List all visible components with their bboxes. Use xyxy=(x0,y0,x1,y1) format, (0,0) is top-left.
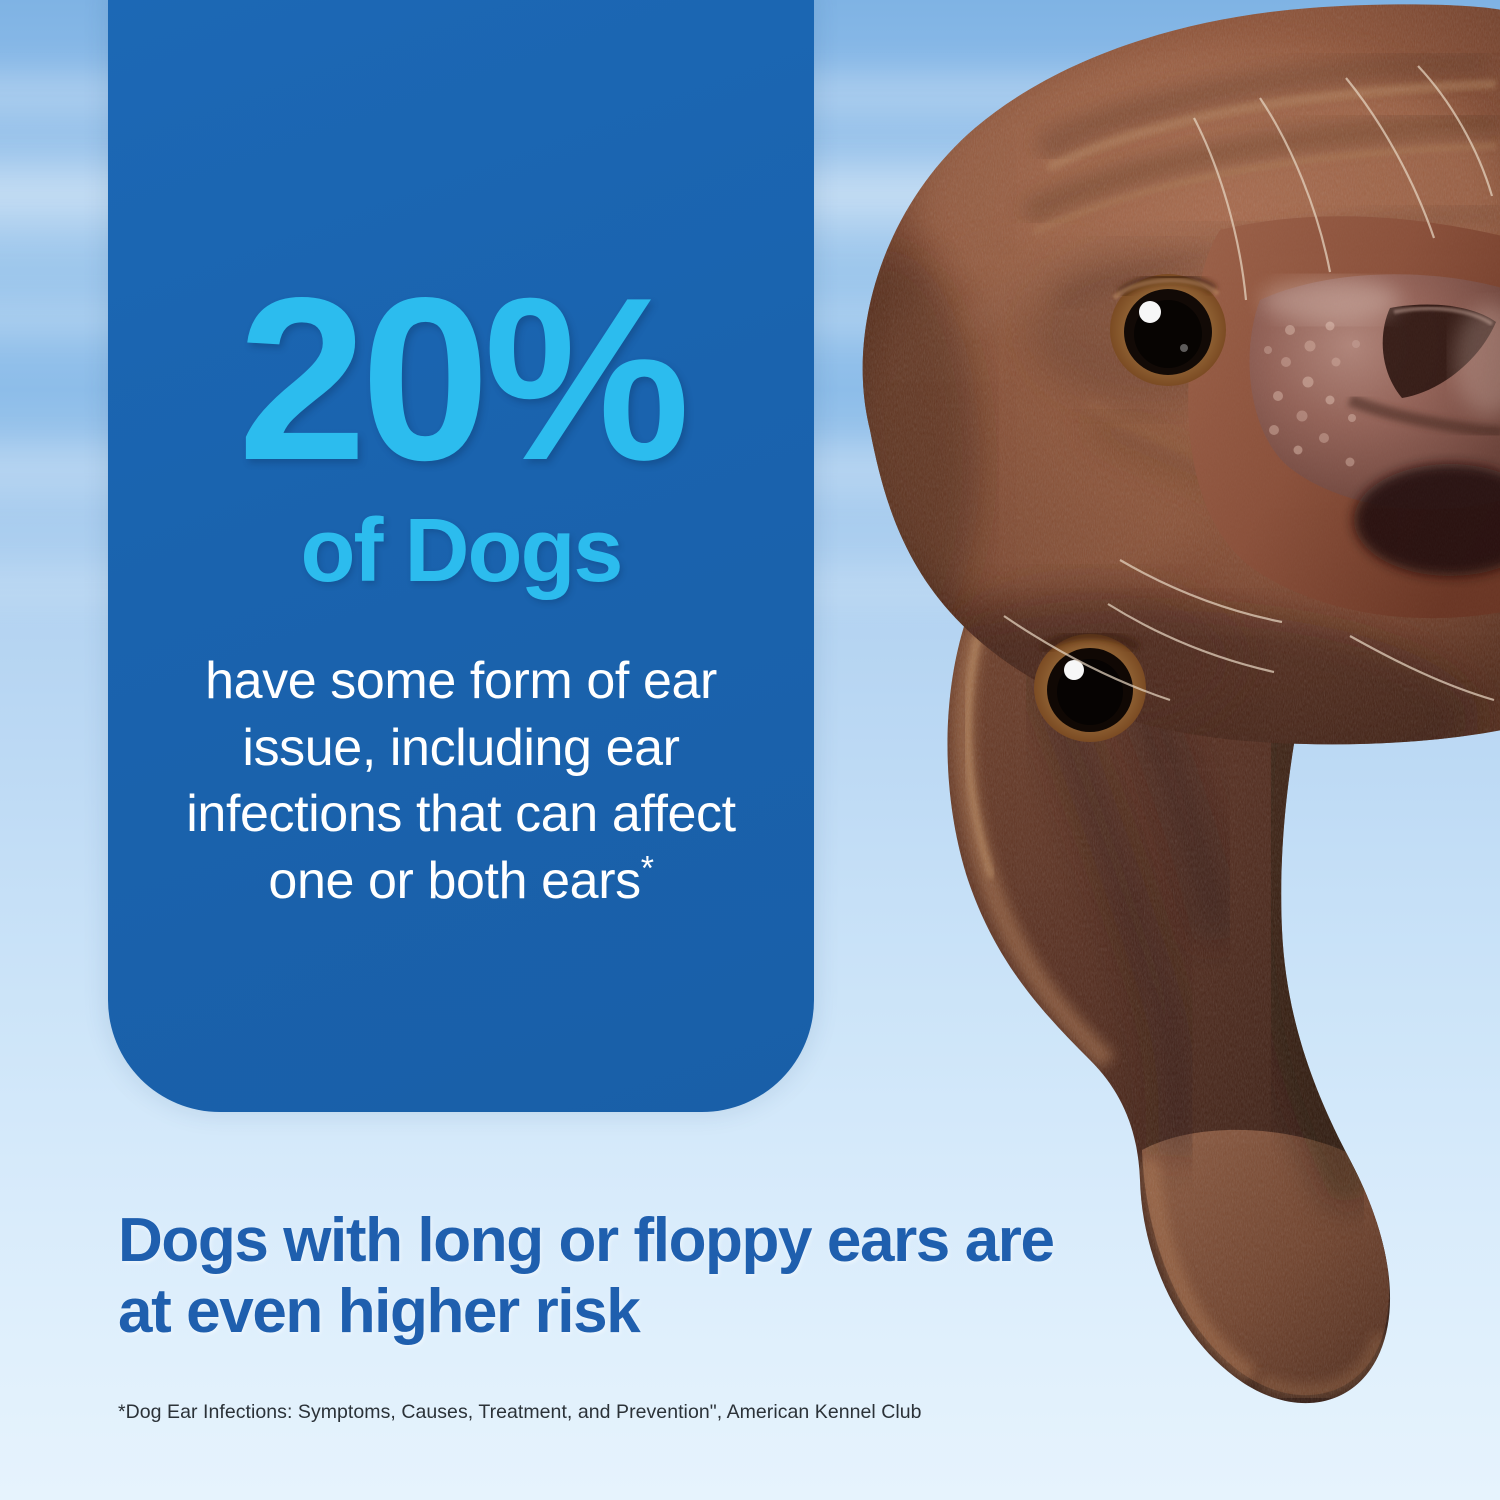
headline-text: Dogs with long or floppy ears are at eve… xyxy=(118,1206,1108,1347)
dog-eye-upper xyxy=(1110,274,1226,386)
stat-description: have some form of ear issue, including e… xyxy=(142,596,780,914)
dog-eye-lower xyxy=(1034,634,1146,742)
stat-card: 20% of Dogs have some form of ear issue,… xyxy=(108,0,814,1112)
source-citation: *Dog Ear Infections: Symptoms, Causes, T… xyxy=(118,1400,1398,1425)
dog-head xyxy=(790,0,1500,830)
poster-canvas: 20% of Dogs have some form of ear issue,… xyxy=(0,0,1500,1500)
footnote-marker: * xyxy=(641,849,654,887)
stat-percentage: 20% xyxy=(142,0,780,482)
stat-card-content: 20% of Dogs have some form of ear issue,… xyxy=(108,0,814,914)
